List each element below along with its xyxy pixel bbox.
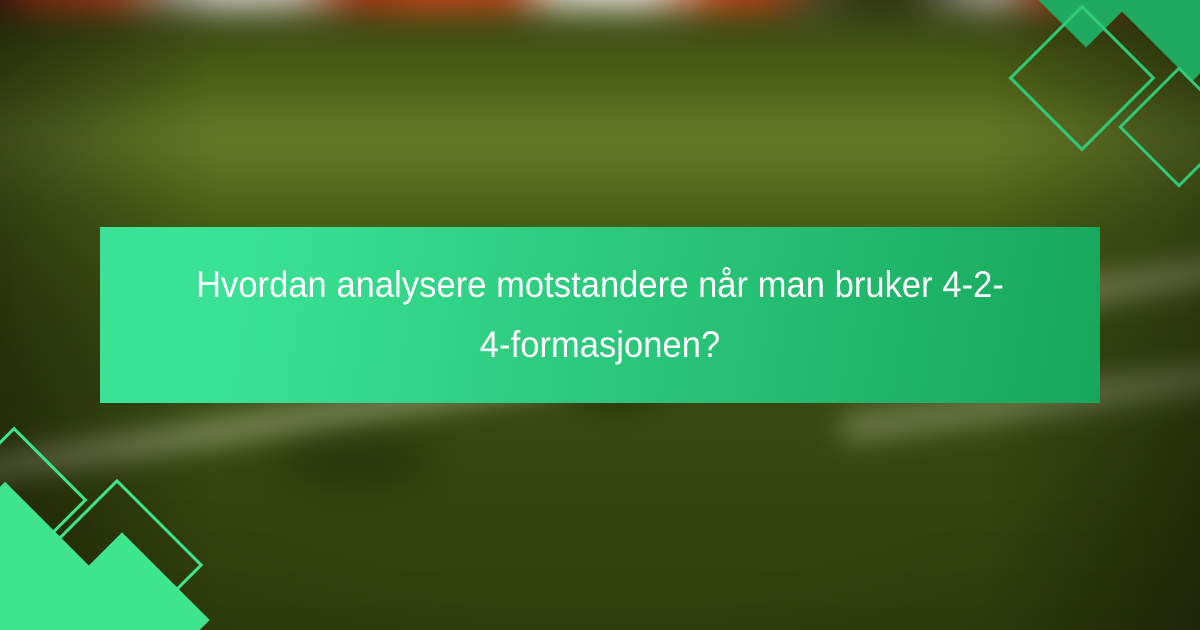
title-banner: Hvordan analysere motstandere når man br… [100,227,1100,403]
share-card: Hvordan analysere motstandere når man br… [0,0,1200,630]
page-title: Hvordan analysere motstandere når man br… [183,255,1016,375]
